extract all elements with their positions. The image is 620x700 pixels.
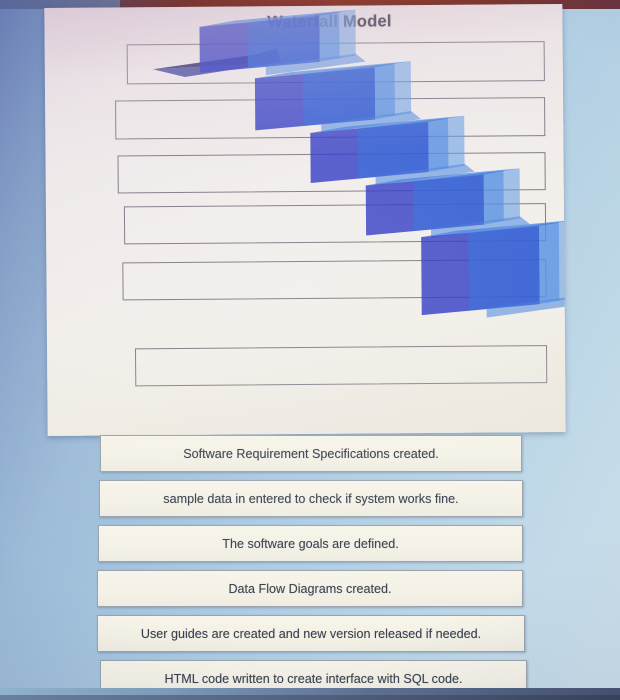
answer-option-label: The software goals are defined.	[222, 537, 398, 551]
phase-box-3[interactable]	[117, 152, 545, 193]
answer-option-5[interactable]: User guides are created and new version …	[97, 615, 525, 652]
phase-box-5[interactable]	[122, 259, 546, 300]
phase-box-6[interactable]	[135, 345, 547, 386]
answer-option-label: User guides are created and new version …	[141, 627, 481, 641]
bottom-edge-strip-dark	[0, 695, 620, 700]
answer-option-3[interactable]: The software goals are defined.	[98, 525, 523, 562]
answer-option-label: Software Requirement Specifications crea…	[183, 447, 439, 461]
page-title: Waterfall Model	[44, 11, 562, 34]
screenshot-root: Waterfall Model Software Requirement Spe…	[0, 0, 620, 700]
phase-box-1[interactable]	[127, 41, 545, 84]
answer-option-list: Software Requirement Specifications crea…	[0, 432, 620, 700]
answer-option-label: HTML code written to create interface wi…	[165, 672, 463, 686]
phase-box-2[interactable]	[115, 97, 545, 139]
answer-option-label: Data Flow Diagrams created.	[228, 582, 391, 596]
waterfall-step-5-ledge	[487, 296, 566, 318]
phase-box-4[interactable]	[124, 203, 546, 244]
answer-option-label: sample data in entered to check if syste…	[163, 492, 458, 506]
answer-option-1[interactable]: Software Requirement Specifications crea…	[100, 435, 522, 472]
answer-option-2[interactable]: sample data in entered to check if syste…	[99, 480, 523, 517]
slide-card: Waterfall Model	[44, 4, 565, 436]
answer-option-4[interactable]: Data Flow Diagrams created.	[97, 570, 523, 607]
